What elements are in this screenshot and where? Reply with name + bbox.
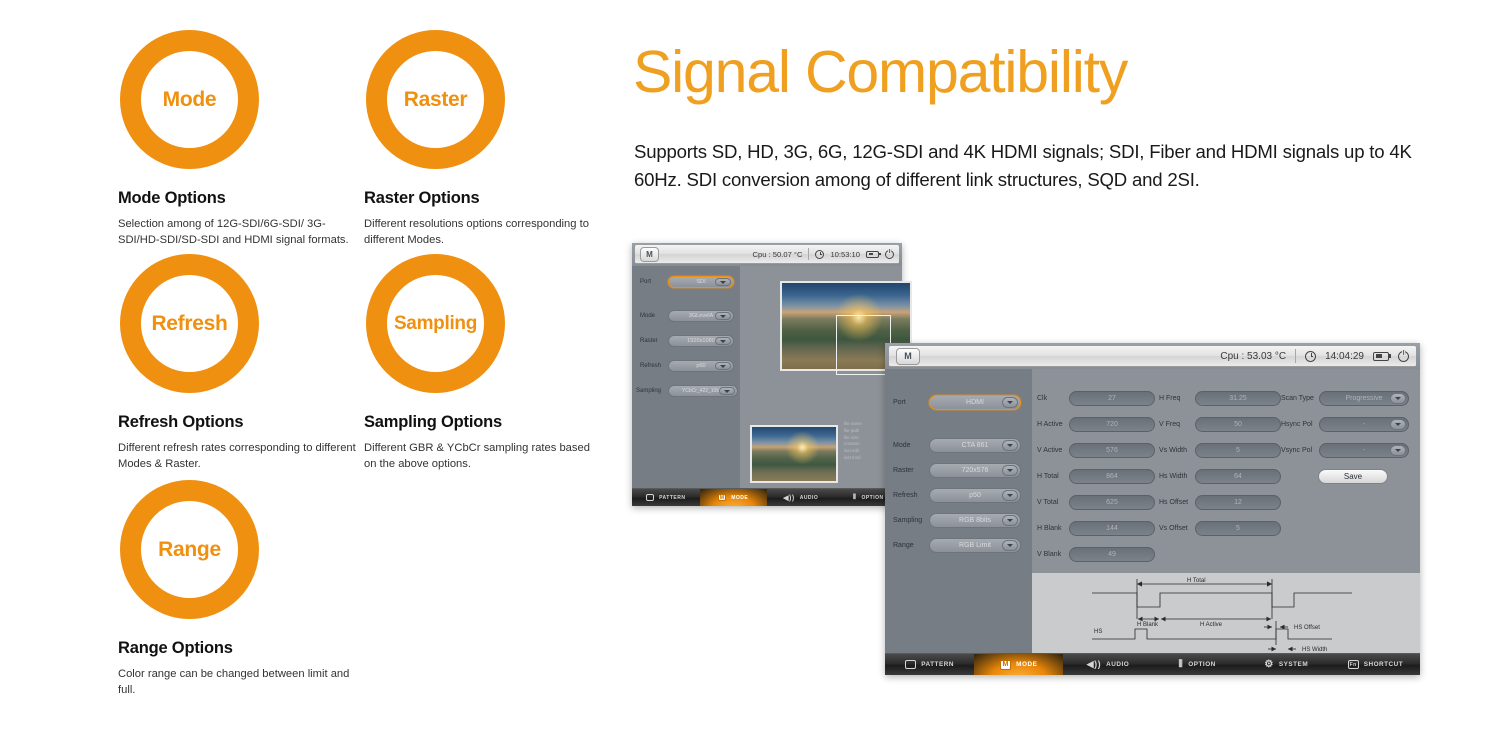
clk-value-field[interactable]: 27	[1069, 391, 1155, 406]
timing-label-h-active: H Active	[1200, 622, 1223, 628]
feature-card-sampling: Sampling Sampling Options Different GBR …	[360, 254, 610, 473]
port-value: HDMI	[966, 399, 984, 406]
v-freq-value-field[interactable]: 50	[1195, 417, 1281, 432]
chevron-down-icon[interactable]	[1002, 440, 1018, 451]
save-label: Save	[1344, 472, 1362, 481]
range-value: RGB Limit	[959, 542, 991, 549]
feature-card-range: Range Range Options Color range can be c…	[114, 480, 364, 699]
nav-label: AUDIO	[1106, 661, 1129, 668]
vsync-pol-dropdown[interactable]: -	[1319, 443, 1409, 458]
field-v-blank[interactable]: V Blank 49	[1037, 547, 1155, 562]
field-label: V Active	[1037, 447, 1069, 454]
hdmi-titlebar: M Cpu : 53.03 °C 14:04:29	[889, 346, 1416, 367]
hdmi-left-column	[885, 369, 1032, 653]
timing-label-h-blank: H Blank	[1137, 622, 1159, 628]
field-raster[interactable]: Raster 1920x1080	[640, 335, 736, 347]
nav-item-system[interactable]: ⚙ SYSTEM	[1242, 654, 1331, 675]
sdi-titlebar: M Cpu : 50.07 °C 10:53:10	[635, 245, 899, 264]
nav-item-pattern[interactable]: PATTERN	[885, 654, 974, 675]
field-label: Refresh	[640, 363, 668, 369]
chevron-down-icon[interactable]	[719, 387, 735, 395]
refresh-value: p60	[696, 363, 705, 369]
sampling-dropdown[interactable]: YCbCr_422_10bits	[668, 385, 738, 397]
h-active-value-field[interactable]: 720	[1069, 417, 1155, 432]
chevron-down-icon[interactable]	[715, 312, 731, 320]
list-item: file size	[844, 435, 862, 442]
hs-offset-value: 12	[1234, 499, 1242, 506]
h-blank-value-field[interactable]: 144	[1069, 521, 1155, 536]
battery-icon	[866, 251, 879, 258]
v-active-value: 576	[1106, 447, 1118, 454]
field-port[interactable]: Port HDMI	[893, 395, 1021, 410]
field-label: Sampling	[893, 517, 929, 524]
field-label: Port	[893, 399, 929, 406]
app-logo-text: M	[904, 351, 912, 361]
chevron-down-icon[interactable]	[1002, 540, 1018, 551]
nav-item-audio[interactable]: ◀)) AUDIO	[767, 489, 835, 506]
port-value: SDI	[696, 279, 705, 285]
refresh-dropdown[interactable]: p60	[668, 360, 734, 372]
fn-key-icon: Fn	[1348, 660, 1359, 669]
sliders-icon: ⦀	[1178, 659, 1183, 670]
field-hs-offset[interactable]: Hs Offset 12	[1159, 495, 1281, 510]
field-scan-type[interactable]: Scan Type Progressive	[1281, 391, 1409, 406]
mode-dropdown[interactable]: 3GLevelA	[668, 310, 734, 322]
mode-dropdown[interactable]: CTA 861	[929, 438, 1021, 453]
h-blank-value: 144	[1106, 525, 1118, 532]
h-freq-value-field[interactable]: 31.25	[1195, 391, 1281, 406]
hdmi-bottom-nav[interactable]: PATTERN M MODE ◀)) AUDIO ⦀ OPTION ⚙ SYST…	[885, 653, 1420, 675]
cpu-temperature: Cpu : 53.03 °C	[1220, 351, 1286, 362]
battery-icon	[1373, 352, 1389, 361]
raster-value: 720x576	[962, 467, 989, 474]
raster-dropdown[interactable]: 1920x1080	[668, 335, 734, 347]
list-item: file name	[844, 421, 862, 428]
save-button[interactable]: Save	[1318, 469, 1388, 484]
clock-time: 14:04:29	[1325, 351, 1364, 362]
field-label: Vs Width	[1159, 447, 1195, 454]
field-label: H Blank	[1037, 525, 1069, 532]
field-label: Hsync Pol	[1281, 421, 1319, 428]
sdi-bottom-nav[interactable]: PATTERN M MODE ◀)) AUDIO ⦀ OPTION	[632, 488, 902, 506]
field-label: Raster	[640, 338, 668, 344]
field-h-total[interactable]: H Total 864	[1037, 469, 1155, 484]
list-item: creation	[844, 441, 862, 448]
raster-value: 1920x1080	[687, 338, 715, 344]
power-icon[interactable]	[885, 250, 894, 259]
chevron-down-icon[interactable]	[715, 337, 731, 345]
nav-label: SYSTEM	[1279, 661, 1308, 668]
nav-label: OPTION	[1188, 661, 1216, 668]
device-screen-sdi: M Cpu : 50.07 °C 10:53:10 Port SDI Mode …	[632, 243, 902, 506]
preview-thumbnail[interactable]	[750, 425, 838, 483]
timing-label-h-total: H Total	[1187, 578, 1206, 584]
port-dropdown[interactable]: SDI	[668, 276, 734, 288]
chevron-down-icon[interactable]	[715, 278, 731, 286]
range-dropdown[interactable]: RGB Limit	[929, 538, 1021, 553]
field-range[interactable]: Range RGB Limit	[893, 538, 1021, 553]
clock-icon	[1305, 351, 1316, 362]
field-h-blank[interactable]: H Blank 144	[1037, 521, 1155, 536]
field-raster[interactable]: Raster 720x576	[893, 463, 1021, 478]
file-meta-list: file name file path file size creation l…	[844, 421, 862, 462]
clock-icon	[815, 250, 824, 259]
vsync-pol-value: -	[1363, 447, 1365, 454]
field-h-active[interactable]: H Active 720	[1037, 417, 1155, 432]
range-ring-icon: Range	[120, 480, 259, 619]
nav-item-option[interactable]: ⦀ OPTION	[1153, 654, 1242, 675]
v-freq-value: 50	[1234, 421, 1242, 428]
speaker-icon: ◀))	[783, 494, 795, 502]
h-total-value-field[interactable]: 864	[1069, 469, 1155, 484]
sampling-dropdown[interactable]: RGB 8bits	[929, 513, 1021, 528]
feature-card-refresh: Refresh Refresh Options Different refres…	[114, 254, 364, 473]
refresh-ring-icon: Refresh	[120, 254, 259, 393]
hs-width-value: 64	[1234, 473, 1242, 480]
feature-title: Range Options	[118, 639, 364, 658]
app-logo-icon: M	[640, 247, 659, 262]
scan-type-dropdown[interactable]: Progressive	[1319, 391, 1409, 406]
cpu-temperature: Cpu : 50.07 °C	[753, 250, 803, 259]
hsync-pol-value: -	[1363, 421, 1365, 428]
nav-item-pattern[interactable]: PATTERN	[632, 489, 700, 506]
timing-label-hs: HS	[1094, 629, 1102, 635]
feature-description: Color range can be changed between limit…	[118, 667, 358, 699]
gear-icon: ⚙	[1264, 659, 1273, 670]
mode-value: CTA 861	[962, 442, 989, 449]
app-logo-text: M	[646, 250, 653, 259]
field-label: Sampling	[636, 388, 668, 394]
sampling-ring-icon: Sampling	[366, 254, 505, 393]
image-icon	[905, 660, 916, 669]
mode-value: 3GLevelA	[689, 313, 714, 319]
sdi-left-column	[632, 266, 740, 488]
feature-title: Raster Options	[364, 189, 610, 208]
feature-description: Different refresh rates corresponding to…	[118, 441, 358, 473]
raster-ring-icon: Raster	[366, 30, 505, 169]
divider	[808, 248, 809, 260]
timing-diagram: H Total H Blank H Active HS HS Offset HS…	[1032, 573, 1420, 653]
feature-title: Refresh Options	[118, 413, 364, 432]
feature-card-mode: Mode Mode Options Selection among of 12G…	[114, 30, 364, 249]
chevron-down-icon[interactable]	[1002, 490, 1018, 501]
feature-card-raster: Raster Raster Options Different resoluti…	[360, 30, 610, 249]
field-h-freq[interactable]: H Freq 31.25	[1159, 391, 1281, 406]
field-hsync-pol[interactable]: Hsync Pol -	[1281, 417, 1409, 432]
device-screen-hdmi: M Cpu : 53.03 °C 14:04:29 Port HDMI Mode…	[885, 343, 1420, 675]
field-v-total[interactable]: V Total 625	[1037, 495, 1155, 510]
field-label: Mode	[893, 442, 929, 449]
field-label: V Blank	[1037, 551, 1069, 558]
field-v-active[interactable]: V Active 576	[1037, 443, 1155, 458]
chevron-down-icon[interactable]	[1390, 419, 1406, 430]
field-sampling[interactable]: Sampling RGB 8bits	[893, 513, 1021, 528]
hs-offset-value-field[interactable]: 12	[1195, 495, 1281, 510]
mode-icon: M	[1000, 660, 1011, 670]
list-item: last edit	[844, 448, 862, 455]
refresh-value: p50	[969, 492, 981, 499]
list-item: file path	[844, 428, 862, 435]
chevron-down-icon[interactable]	[1390, 393, 1406, 404]
hs-width-value-field[interactable]: 64	[1195, 469, 1281, 484]
h-freq-value: 31.25	[1229, 395, 1247, 402]
port-dropdown[interactable]: HDMI	[929, 395, 1021, 410]
sliders-icon: ⦀	[853, 494, 857, 502]
v-blank-value: 49	[1108, 551, 1116, 558]
field-label: Hs Offset	[1159, 499, 1195, 506]
vs-offset-value: 5	[1236, 525, 1240, 532]
raster-dropdown[interactable]: 720x576	[929, 463, 1021, 478]
mode-icon: M	[718, 494, 726, 501]
image-icon	[646, 494, 654, 501]
field-label: Refresh	[893, 492, 929, 499]
ring-label: Range	[158, 539, 221, 560]
field-label: Mode	[640, 313, 668, 319]
field-label: Hs Width	[1159, 473, 1195, 480]
field-label: Scan Type	[1281, 395, 1319, 402]
field-mode[interactable]: Mode 3GLevelA	[640, 310, 736, 322]
mode-ring-icon: Mode	[120, 30, 259, 169]
field-label: H Active	[1037, 421, 1069, 428]
field-label: Range	[893, 542, 929, 549]
nav-item-mode[interactable]: M MODE	[700, 489, 768, 506]
field-refresh[interactable]: Refresh p50	[893, 488, 1021, 503]
nav-label: AUDIO	[800, 495, 819, 501]
feature-description: Different GBR & YCbCr sampling rates bas…	[364, 441, 604, 473]
feature-title: Mode Options	[118, 189, 364, 208]
field-vs-offset[interactable]: Vs Offset 5	[1159, 521, 1281, 536]
nav-label: OPTION	[861, 495, 883, 501]
h-active-value: 720	[1106, 421, 1118, 428]
field-vsync-pol[interactable]: Vsync Pol -	[1281, 443, 1409, 458]
field-label: Raster	[893, 467, 929, 474]
divider	[1295, 349, 1296, 363]
field-label: H Total	[1037, 473, 1069, 480]
nav-label: SHORTCUT	[1364, 661, 1404, 668]
nav-label: PATTERN	[659, 495, 685, 501]
nav-label: PATTERN	[921, 661, 954, 668]
app-logo-icon: M	[896, 348, 920, 365]
v-total-value-field[interactable]: 625	[1069, 495, 1155, 510]
field-vs-width[interactable]: Vs Width 5	[1159, 443, 1281, 458]
field-label: Vs Offset	[1159, 525, 1195, 532]
feature-description: Selection among of 12G-SDI/6G-SDI/ 3G-SD…	[118, 217, 358, 249]
ring-label: Refresh	[151, 313, 227, 334]
chevron-down-icon[interactable]	[1002, 465, 1018, 476]
clk-value: 27	[1108, 395, 1116, 402]
field-label: Vsync Pol	[1281, 447, 1319, 454]
field-port[interactable]: Port SDI	[640, 276, 736, 288]
vs-width-value: 5	[1236, 447, 1240, 454]
ring-label: Mode	[163, 89, 217, 110]
vs-offset-value-field[interactable]: 5	[1195, 521, 1281, 536]
vs-width-value-field[interactable]: 5	[1195, 443, 1281, 458]
v-active-value-field[interactable]: 576	[1069, 443, 1155, 458]
chevron-down-icon[interactable]	[715, 362, 731, 370]
field-label: Port	[640, 279, 668, 285]
refresh-dropdown[interactable]: p50	[929, 488, 1021, 503]
field-hs-width[interactable]: Hs Width 64	[1159, 469, 1281, 484]
nav-label: MODE	[1016, 661, 1037, 668]
nav-label: MODE	[731, 495, 748, 501]
hsync-pol-dropdown[interactable]: -	[1319, 417, 1409, 432]
clock-time: 10:53:10	[830, 250, 860, 259]
nav-item-audio[interactable]: ◀)) AUDIO	[1063, 654, 1152, 675]
ring-label: Sampling	[394, 314, 477, 333]
nav-item-mode[interactable]: M MODE	[974, 654, 1063, 675]
h-total-value: 864	[1106, 473, 1118, 480]
page-intro: Supports SD, HD, 3G, 6G, 12G-SDI and 4K …	[634, 138, 1418, 194]
feature-grid: Mode Mode Options Selection among of 12G…	[114, 30, 614, 710]
field-mode[interactable]: Mode CTA 861	[893, 438, 1021, 453]
field-label: H Freq	[1159, 395, 1195, 402]
selection-rectangle[interactable]	[836, 315, 891, 375]
feature-description: Different resolutions options correspond…	[364, 217, 604, 249]
page-title: Signal Compatibility	[633, 42, 1127, 104]
nav-item-shortcut[interactable]: Fn SHORTCUT	[1331, 654, 1420, 675]
field-v-freq[interactable]: V Freq 50	[1159, 417, 1281, 432]
scan-type-value: Progressive	[1346, 395, 1383, 402]
field-refresh[interactable]: Refresh p60	[640, 360, 736, 372]
sampling-value: YCbCr_422_10bits	[682, 388, 724, 394]
list-item: last mod	[844, 455, 862, 462]
field-label: V Freq	[1159, 421, 1195, 428]
chevron-down-icon[interactable]	[1390, 445, 1406, 456]
field-clk[interactable]: Clk 27	[1037, 391, 1155, 406]
chevron-down-icon[interactable]	[1002, 515, 1018, 526]
field-sampling[interactable]: Sampling YCbCr_422_10bits	[636, 385, 740, 397]
v-blank-value-field[interactable]: 49	[1069, 547, 1155, 562]
speaker-icon: ◀))	[1087, 659, 1101, 670]
feature-title: Sampling Options	[364, 413, 610, 432]
sampling-value: RGB 8bits	[959, 517, 991, 524]
chevron-down-icon[interactable]	[1002, 397, 1018, 408]
power-icon[interactable]	[1398, 351, 1409, 362]
timing-label-hs-offset: HS Offset	[1294, 625, 1320, 631]
field-label: V Total	[1037, 499, 1069, 506]
field-label: Clk	[1037, 395, 1069, 402]
v-total-value: 625	[1106, 499, 1118, 506]
ring-label: Raster	[404, 89, 468, 110]
